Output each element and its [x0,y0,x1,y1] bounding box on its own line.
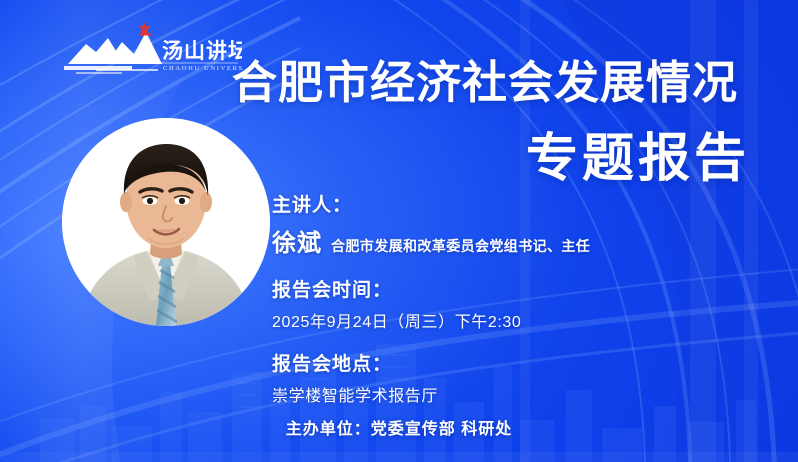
speaker-label: 主讲人： [272,190,590,217]
svg-text:CHAOHU UNIVERSITY: CHAOHU UNIVERSITY [163,65,242,72]
time-label: 报告会时间： [272,275,590,302]
place-label: 报告会地点： [272,349,590,376]
speaker-section: 主讲人： 徐斌 合肥市发展和改革委员会党组书记、主任 [272,190,590,258]
chaohu-university-logo: 汤山讲坛 CHAOHU UNIVERSITY [62,22,242,80]
speaker-name: 徐斌 [272,223,322,258]
time-value: 2025年9月24日（周三）下午2:30 [272,308,590,332]
svg-text:汤山讲坛: 汤山讲坛 [162,39,242,63]
place-value: 崇学楼智能学术报告厅 [272,382,590,406]
time-section: 报告会时间： 2025年9月24日（周三）下午2:30 [272,275,590,332]
logo-wordmark-en: CHAOHU UNIVERSITY [163,65,242,72]
organizer-footer: 主办单位：党委宣传部 科研处 [0,415,798,439]
place-section: 报告会地点： 崇学楼智能学术报告厅 [272,349,590,406]
poster-canvas: 汤山讲坛 CHAOHU UNIVERSITY [0,0,798,462]
speaker-row: 徐斌 合肥市发展和改革委员会党组书记、主任 [272,223,590,258]
speaker-position: 合肥市发展和改革委员会党组书记、主任 [331,236,590,256]
mountain-shape [64,32,162,74]
pavilion-icon [139,23,151,36]
event-info-block: 主讲人： 徐斌 合肥市发展和改革委员会党组书记、主任 报告会时间： 2025年9… [272,190,590,406]
poster-title-line-1: 合肥市经济社会发展情况 [232,60,738,105]
poster-title-line-2: 专题报告 [526,133,750,185]
speaker-portrait [62,118,270,326]
logo-wordmark-cn: 汤山讲坛 [162,39,242,63]
